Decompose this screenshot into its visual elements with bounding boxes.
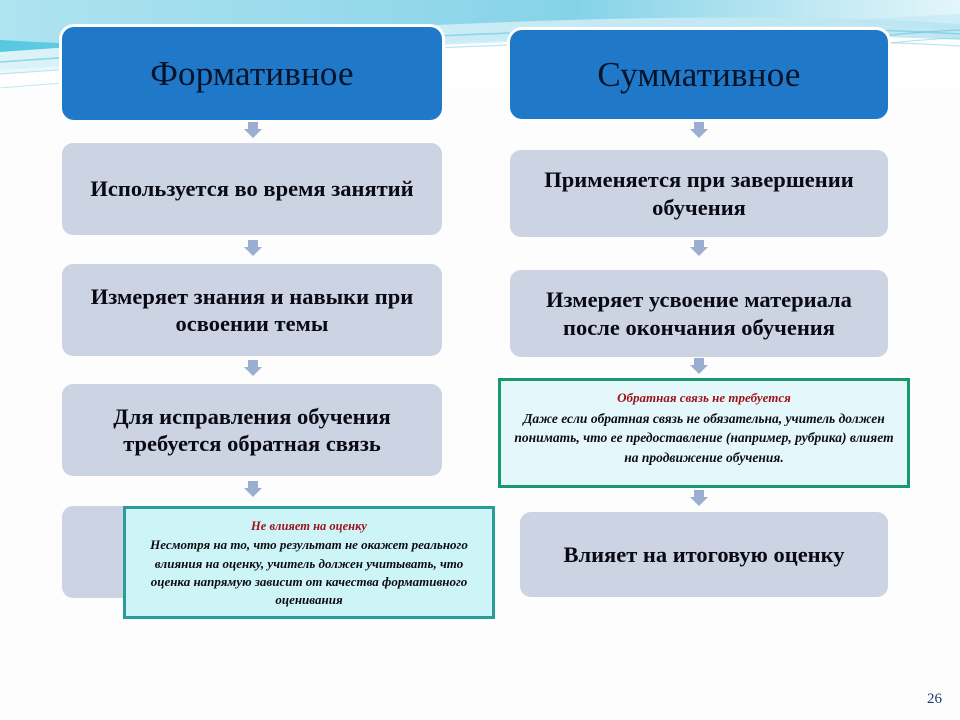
step-box-formative-3[interactable]: Для исправления обучения требуется обрат… (62, 384, 442, 476)
arrow-down-icon (690, 490, 708, 506)
header-box-formative[interactable]: Формативное (62, 27, 442, 120)
callout-body: Даже если обратная связь не обязательна,… (513, 409, 895, 468)
slide-canvas: Формативное Используется во время заняти… (0, 0, 960, 720)
step-label: Применяется при завершении обучения (524, 166, 874, 221)
callout-formative[interactable]: Не влияет на оценку Несмотря на то, что … (123, 506, 495, 619)
page-number: 26 (927, 691, 942, 708)
callout-body: Несмотря на то, что результат не окажет … (138, 536, 480, 610)
arrow-down-icon (690, 122, 708, 138)
header-label-formative: Формативное (150, 54, 354, 94)
arrow-down-icon (244, 360, 262, 376)
header-label-summative: Суммативное (597, 55, 800, 95)
arrow-down-icon (690, 240, 708, 256)
step-label: Для исправления обучения требуется обрат… (76, 403, 428, 458)
step-box-formative-1[interactable]: Используется во время занятий (62, 143, 442, 235)
step-label: Измеряет знания и навыки при освоении те… (76, 283, 428, 338)
step-box-formative-2[interactable]: Измеряет знания и навыки при освоении те… (62, 264, 442, 356)
arrow-down-icon (244, 481, 262, 497)
step-label: Используется во время занятий (90, 175, 413, 202)
step-box-summative-final[interactable]: Влияет на итоговую оценку (520, 512, 888, 597)
arrow-down-icon (244, 122, 262, 138)
step-box-summative-1[interactable]: Применяется при завершении обучения (510, 150, 888, 237)
callout-title: Обратная связь не требуется (513, 389, 895, 408)
step-label: Влияет на итоговую оценку (563, 541, 844, 568)
header-box-summative[interactable]: Суммативное (510, 30, 888, 119)
arrow-down-icon (690, 358, 708, 374)
step-box-summative-2[interactable]: Измеряет усвоение материала после оконча… (510, 270, 888, 357)
arrow-down-icon (244, 240, 262, 256)
callout-summative[interactable]: Обратная связь не требуется Даже если об… (498, 378, 910, 488)
callout-title: Не влияет на оценку (138, 517, 480, 535)
step-label: Измеряет усвоение материала после оконча… (524, 286, 874, 341)
